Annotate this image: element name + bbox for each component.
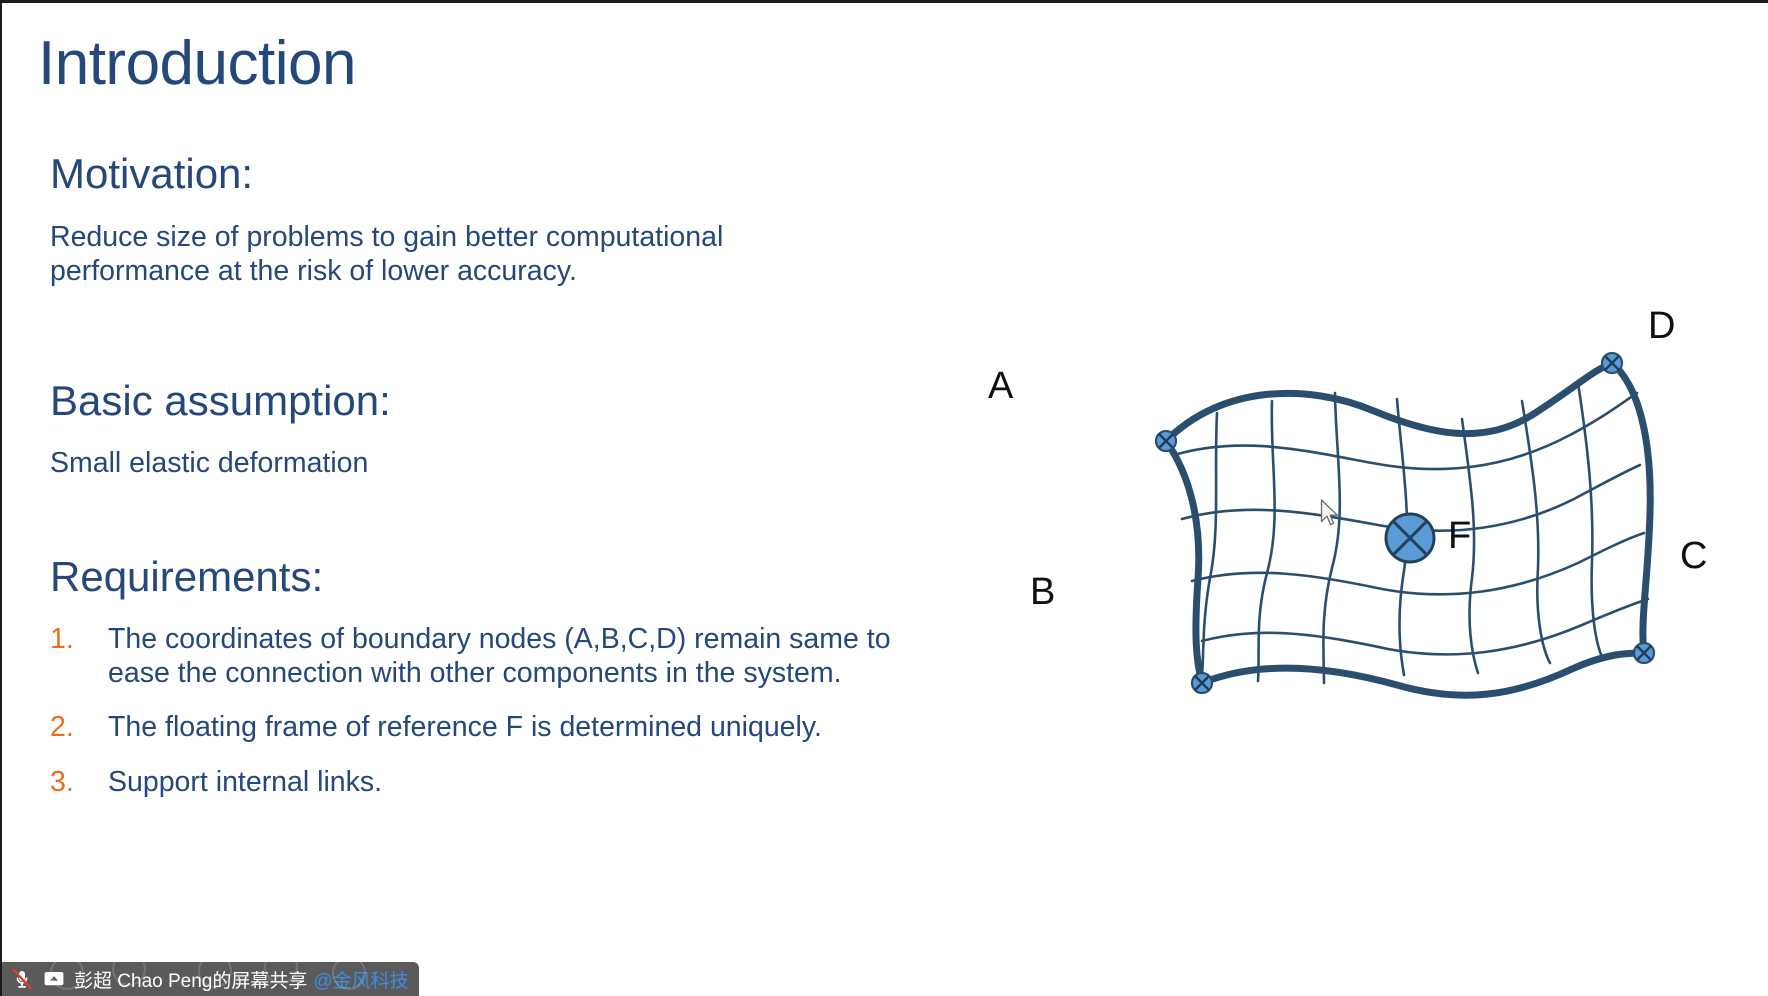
microphone-muted-icon[interactable] xyxy=(10,967,34,991)
deformable-mesh-diagram: A B C D F xyxy=(1092,323,1712,703)
section-heading-basic-assumption: Basic assumption: xyxy=(50,378,391,424)
boundary-node-d xyxy=(1602,353,1622,373)
list-item-number: 2. xyxy=(50,711,108,745)
node-label-b: B xyxy=(1030,573,1055,611)
list-item-text: The floating frame of reference F is det… xyxy=(108,711,950,745)
section-body-motivation: Reduce size of problems to gain better c… xyxy=(50,221,810,288)
list-item: 2. The floating frame of reference F is … xyxy=(50,711,950,745)
list-item-number: 3. xyxy=(50,766,108,800)
boundary-node-c xyxy=(1634,643,1654,663)
page-title: Introduction xyxy=(38,31,356,96)
section-heading-requirements: Requirements: xyxy=(50,554,323,600)
floating-frame-marker xyxy=(1386,514,1434,562)
share-status-text: 彭超 Chao Peng的屏幕共享 xyxy=(74,966,307,993)
screen-share-status-bar[interactable]: 彭超 Chao Peng的屏幕共享 @金风科技 xyxy=(2,962,419,996)
presentation-slide: Introduction Motivation: Reduce size of … xyxy=(0,0,1768,996)
section-heading-motivation: Motivation: xyxy=(50,151,253,197)
node-label-c: C xyxy=(1680,537,1707,575)
screen-share-icon[interactable] xyxy=(42,967,66,991)
node-label-a: A xyxy=(988,367,1013,405)
list-item-number: 1. xyxy=(50,623,108,657)
list-item-text: The coordinates of boundary nodes (A,B,C… xyxy=(108,623,950,690)
node-label-d: D xyxy=(1648,307,1675,345)
boundary-node-a xyxy=(1156,431,1176,451)
boundary-node-b xyxy=(1192,673,1212,693)
list-item: 1. The coordinates of boundary nodes (A,… xyxy=(50,623,950,690)
list-item: 3. Support internal links. xyxy=(50,766,950,800)
section-body-basic-assumption: Small elastic deformation xyxy=(50,447,750,481)
list-item-text: Support internal links. xyxy=(108,766,950,800)
node-label-f: F xyxy=(1448,517,1471,555)
requirements-list: 1. The coordinates of boundary nodes (A,… xyxy=(50,623,950,821)
watermark-label: @金风科技 xyxy=(313,966,408,993)
